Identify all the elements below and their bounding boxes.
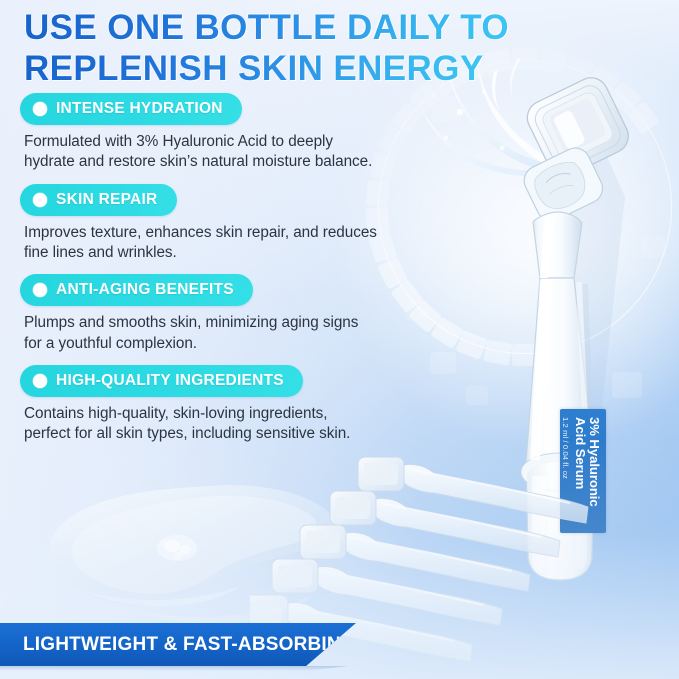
feature-description: Improves texture, enhances skin repair, … (24, 223, 444, 264)
dot-icon (33, 374, 47, 388)
feature-badge-label: SKIN REPAIR (56, 191, 158, 209)
feature-description: Plumps and smooths skin, minimizing agin… (24, 313, 444, 354)
page-title: USE ONE BOTTLE DAILY TO REPLENISH SKIN E… (24, 8, 504, 89)
bottom-banner: LIGHTWEIGHT & FAST-ABSORBING (0, 623, 356, 666)
feature-badge-skin-repair[interactable]: SKIN REPAIR (20, 184, 177, 216)
bottom-banner-label: LIGHTWEIGHT & FAST-ABSORBING (23, 634, 356, 656)
feature-badge-label: HIGH-QUALITY INGREDIENTS (56, 372, 284, 390)
dot-icon (33, 102, 47, 116)
feature-list: INTENSE HYDRATION Formulated with 3% Hya… (0, 93, 470, 456)
feature-badge-high-quality-ingredients[interactable]: HIGH-QUALITY INGREDIENTS (20, 365, 303, 397)
feature-badge-intense-hydration[interactable]: INTENSE HYDRATION (20, 93, 242, 125)
feature-item: SKIN REPAIR Improves texture, enhances s… (0, 184, 470, 264)
feature-description: Formulated with 3% Hyaluronic Acid to de… (24, 132, 444, 173)
feature-badge-label: ANTI-AGING BENEFITS (56, 281, 234, 299)
headline-line-2: REPLENISH SKIN ENERGY (24, 49, 504, 90)
feature-item: INTENSE HYDRATION Formulated with 3% Hya… (0, 93, 470, 173)
dot-icon (33, 283, 47, 297)
product-infographic: 3% Hyaluronic Acid Serum 1.2 ml / 0.04 f… (0, 0, 679, 679)
feature-item: ANTI-AGING BENEFITS Plumps and smooths s… (0, 274, 470, 354)
feature-description: Contains high-quality, skin-loving ingre… (24, 404, 444, 445)
headline-line-1: USE ONE BOTTLE DAILY TO (24, 8, 504, 49)
feature-item: HIGH-QUALITY INGREDIENTS Contains high-q… (0, 365, 470, 445)
feature-badge-label: INTENSE HYDRATION (56, 100, 223, 118)
dot-icon (33, 193, 47, 207)
feature-badge-anti-aging-benefits[interactable]: ANTI-AGING BENEFITS (20, 274, 253, 306)
banner-shadow (0, 666, 348, 671)
